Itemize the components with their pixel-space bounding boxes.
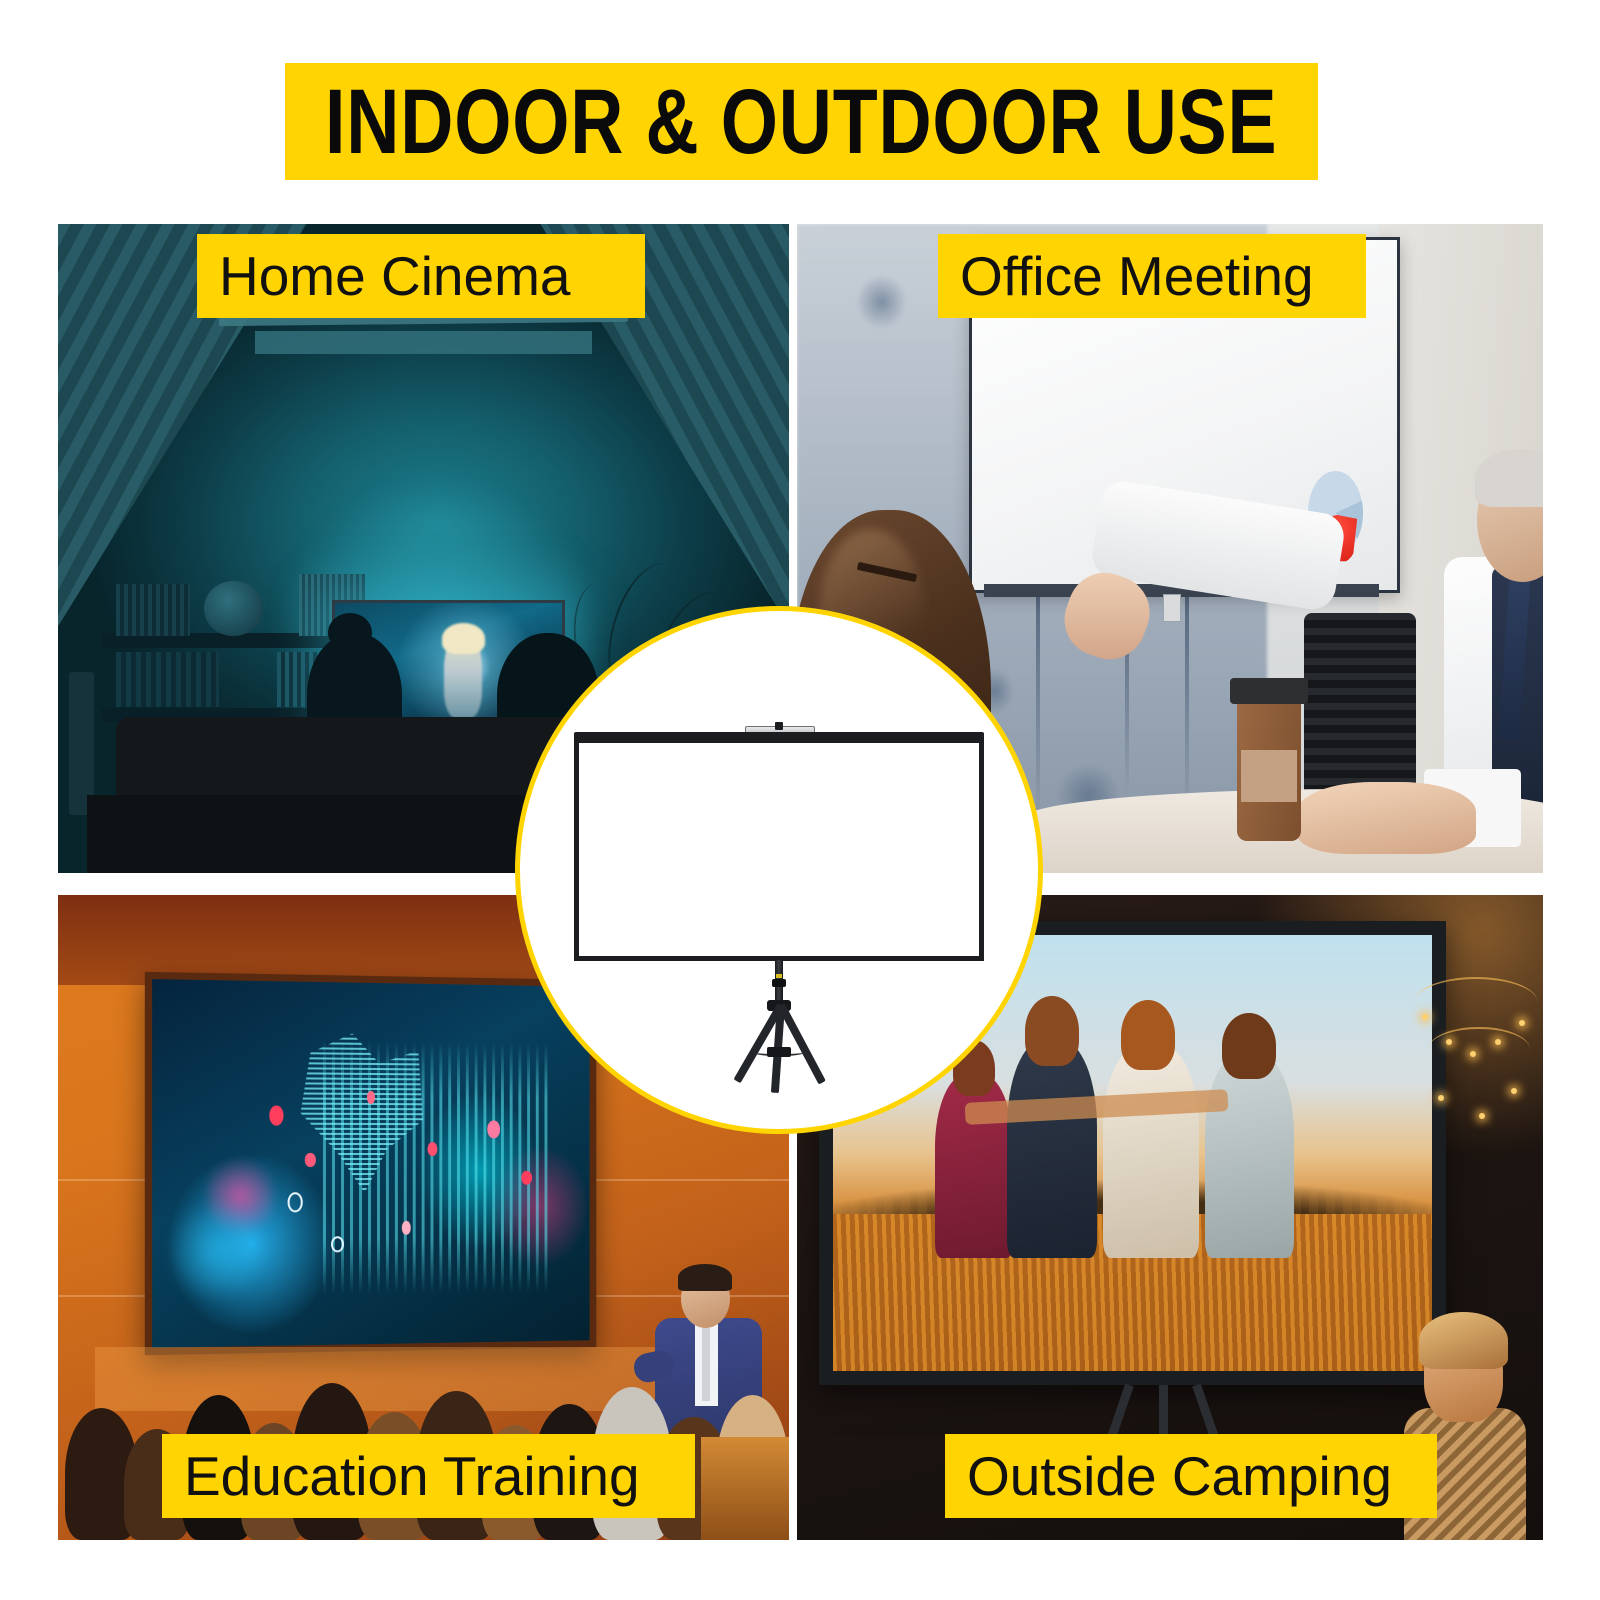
tripod-center-foot bbox=[767, 1047, 791, 1057]
light-wire-2 bbox=[1428, 1027, 1530, 1072]
caption-tag-outside-camping: Outside Camping bbox=[945, 1434, 1437, 1518]
resting-hand bbox=[1297, 782, 1476, 853]
caption-tag-office-meeting: Office Meeting bbox=[938, 234, 1366, 318]
header-banner: INDOOR & OUTDOOR USE bbox=[285, 63, 1318, 180]
coffee-cup-sleeve bbox=[1241, 750, 1297, 802]
bracket-knob bbox=[775, 722, 782, 730]
round-clock bbox=[204, 581, 262, 636]
caption-tag-education-training: Education Training bbox=[162, 1434, 695, 1518]
presenter-hair bbox=[678, 1264, 732, 1291]
tripod-leg-right bbox=[777, 1003, 825, 1084]
light-bulb bbox=[1511, 1088, 1517, 1094]
caption-label-home-cinema: Home Cinema bbox=[219, 249, 571, 304]
ceiling-beam-secondary bbox=[255, 331, 591, 354]
friend-body-4 bbox=[1205, 1053, 1295, 1258]
floor-lamp bbox=[69, 672, 94, 815]
books-upper bbox=[116, 584, 189, 636]
caption-label-office-meeting: Office Meeting bbox=[960, 249, 1314, 304]
friend-head-4 bbox=[1222, 1013, 1276, 1078]
coffee-cup-lid bbox=[1230, 678, 1308, 704]
light-bulb bbox=[1519, 1020, 1525, 1026]
post-collar bbox=[772, 979, 786, 987]
caption-label-outside-camping: Outside Camping bbox=[967, 1449, 1392, 1504]
post-adjust-marker bbox=[776, 974, 782, 978]
marketing-infographic: INDOOR & OUTDOOR USE bbox=[0, 0, 1600, 1600]
friend-head-3 bbox=[1121, 1000, 1175, 1070]
wall-art-drip-3 bbox=[1185, 594, 1189, 815]
viz-dot-5 bbox=[428, 1142, 437, 1156]
man-hair bbox=[1475, 449, 1543, 507]
viz-dot-2 bbox=[305, 1152, 316, 1167]
movie-character-hair bbox=[442, 623, 485, 654]
caption-label-education-training: Education Training bbox=[184, 1449, 640, 1504]
podium bbox=[701, 1437, 789, 1540]
projector-screen-icon bbox=[520, 611, 1038, 1129]
light-bulb bbox=[1495, 1039, 1501, 1045]
light-bulb bbox=[1479, 1113, 1485, 1119]
books-lower bbox=[116, 652, 218, 707]
friend-body-3 bbox=[1103, 1044, 1199, 1258]
screen-panel bbox=[574, 738, 983, 961]
header-banner-text: INDOOR & OUTDOOR USE bbox=[325, 76, 1277, 168]
screen-wall-mount bbox=[1163, 594, 1181, 622]
light-bulb bbox=[1438, 1095, 1444, 1101]
string-lights-icon bbox=[1409, 934, 1543, 1244]
viz-dot-4 bbox=[367, 1091, 376, 1103]
viewer-hair bbox=[1419, 1312, 1508, 1369]
caption-tag-home-cinema: Home Cinema bbox=[197, 234, 645, 318]
viz-dot-6 bbox=[488, 1120, 500, 1137]
product-badge-circle bbox=[515, 606, 1043, 1134]
